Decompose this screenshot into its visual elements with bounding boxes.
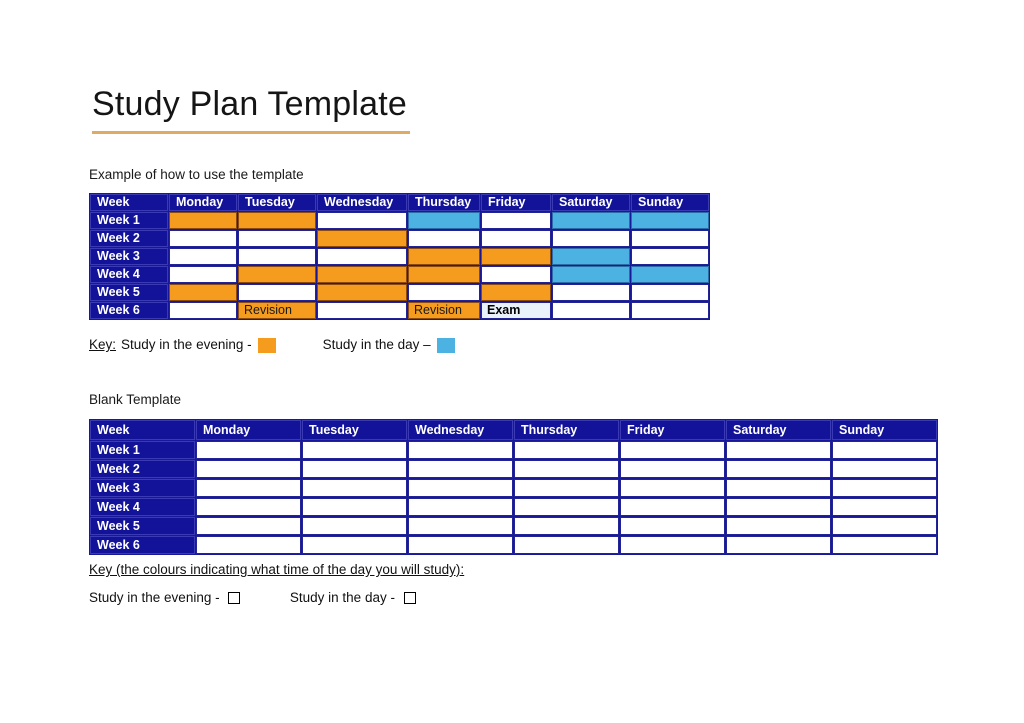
week-label-cell: Week 5 [90, 517, 195, 535]
day-cell[interactable] [832, 536, 937, 554]
day-cell[interactable] [832, 460, 937, 478]
table-row: Week 3 [90, 248, 709, 265]
example-table-body: Week 1Week 2Week 3Week 4Week 5Week 6Revi… [90, 212, 709, 319]
day-cell[interactable] [552, 230, 630, 247]
column-header-thursday: Thursday [514, 420, 619, 440]
column-header-thursday: Thursday [408, 194, 480, 211]
column-header-tuesday: Tuesday [238, 194, 316, 211]
day-cell[interactable] [620, 460, 725, 478]
table-row: Week 3 [90, 479, 937, 497]
day-cell[interactable] [196, 498, 301, 516]
evening-checkbox-icon[interactable] [228, 592, 240, 604]
day-cell[interactable] [317, 302, 407, 319]
evening-color-swatch-icon [258, 338, 276, 353]
column-header-monday: Monday [196, 420, 301, 440]
day-cell[interactable] [726, 479, 831, 497]
page-title-block: Study Plan Template [92, 84, 422, 134]
day-cell[interactable] [514, 498, 619, 516]
day-cell[interactable] [481, 230, 551, 247]
day-cell[interactable] [408, 498, 513, 516]
table-row: Week 1 [90, 441, 937, 459]
day-cell[interactable] [552, 212, 630, 229]
column-header-friday: Friday [620, 420, 725, 440]
day-cell[interactable] [552, 302, 630, 319]
day-cell[interactable] [302, 517, 407, 535]
day-cell[interactable] [408, 230, 480, 247]
day-cell[interactable] [238, 266, 316, 283]
day-cell[interactable] [238, 284, 316, 301]
day-cell[interactable] [408, 284, 480, 301]
column-header-sunday: Sunday [832, 420, 937, 440]
day-cell-text: Revision [244, 303, 315, 318]
page-title: Study Plan Template [92, 84, 422, 124]
column-header-wednesday: Wednesday [317, 194, 407, 211]
key-word-label: Key: [89, 336, 116, 354]
column-header-wednesday: Wednesday [408, 420, 513, 440]
day-cell[interactable] [238, 230, 316, 247]
day-cell[interactable] [514, 460, 619, 478]
column-header-saturday: Saturday [552, 194, 630, 211]
table-row: Week 2 [90, 230, 709, 247]
table-header-row: Week Monday Tuesday Wednesday Thursday F… [90, 420, 937, 440]
day-cell[interactable] [302, 441, 407, 459]
day-cell[interactable] [408, 441, 513, 459]
day-cell[interactable] [726, 517, 831, 535]
day-cell-text: Revision [414, 303, 479, 318]
key-evening-label: Study in the evening - [89, 590, 220, 605]
column-header-monday: Monday [169, 194, 237, 211]
day-cell[interactable] [514, 479, 619, 497]
key-day-label: Study in the day - [290, 590, 395, 605]
day-cell[interactable] [481, 284, 551, 301]
day-color-swatch-icon [437, 338, 455, 353]
day-cell[interactable] [169, 302, 237, 319]
day-cell[interactable] [196, 536, 301, 554]
day-cell[interactable] [620, 517, 725, 535]
day-cell[interactable] [408, 266, 480, 283]
day-cell[interactable] [238, 248, 316, 265]
day-cell-text: Exam [487, 303, 550, 318]
column-header-week: Week [90, 420, 195, 440]
week-label-cell: Week 6 [90, 302, 168, 319]
day-cell[interactable] [481, 248, 551, 265]
table-header-row: Week Monday Tuesday Wednesday Thursday F… [90, 194, 709, 211]
day-cell[interactable] [317, 248, 407, 265]
day-cell[interactable] [408, 479, 513, 497]
day-cell[interactable] [196, 479, 301, 497]
week-label-cell: Week 3 [90, 248, 168, 265]
blank-table-body: Week 1Week 2Week 3Week 4Week 5Week 6 [90, 441, 937, 554]
week-label-cell: Week 3 [90, 479, 195, 497]
day-cell[interactable] [832, 498, 937, 516]
day-cell[interactable] [302, 498, 407, 516]
week-label-cell: Week 6 [90, 536, 195, 554]
week-label-cell: Week 4 [90, 498, 195, 516]
day-cell[interactable] [726, 441, 831, 459]
table-row: Week 5 [90, 517, 937, 535]
document-page: Study Plan Template Example of how to us… [0, 0, 1024, 723]
key-evening-label: Study in the evening - [121, 336, 252, 354]
day-cell[interactable] [481, 212, 551, 229]
table-row: Week 4 [90, 498, 937, 516]
day-cell[interactable] [631, 212, 709, 229]
day-checkbox-icon[interactable] [404, 592, 416, 604]
day-cell[interactable] [481, 266, 551, 283]
day-cell[interactable] [726, 498, 831, 516]
day-cell[interactable] [552, 284, 630, 301]
day-cell[interactable] [832, 517, 937, 535]
table-row: Week 6 [90, 536, 937, 554]
day-cell[interactable] [620, 479, 725, 497]
day-cell[interactable] [317, 230, 407, 247]
day-cell[interactable] [317, 212, 407, 229]
day-cell[interactable] [631, 266, 709, 283]
blank-study-plan-table: Week Monday Tuesday Wednesday Thursday F… [89, 419, 938, 555]
day-cell[interactable] [631, 230, 709, 247]
week-label-cell: Week 1 [90, 212, 168, 229]
day-cell[interactable] [620, 536, 725, 554]
example-key-legend: Key: Study in the evening - Study in the… [89, 336, 455, 354]
day-cell[interactable] [196, 517, 301, 535]
day-cell[interactable] [620, 498, 725, 516]
day-cell[interactable] [408, 460, 513, 478]
day-cell[interactable] [552, 248, 630, 265]
day-cell[interactable] [169, 266, 237, 283]
day-cell[interactable] [302, 536, 407, 554]
day-cell[interactable] [408, 212, 480, 229]
table-row: Week 2 [90, 460, 937, 478]
day-cell[interactable] [408, 536, 513, 554]
week-label-cell: Week 2 [90, 460, 195, 478]
day-cell[interactable]: Revision [238, 302, 316, 319]
day-cell[interactable] [169, 284, 237, 301]
day-cell[interactable] [620, 441, 725, 459]
day-cell[interactable] [832, 479, 937, 497]
example-study-plan-table: Week Monday Tuesday Wednesday Thursday F… [89, 193, 710, 320]
key-day-label: Study in the day – [323, 336, 431, 354]
example-section-label: Example of how to use the template [89, 167, 304, 183]
day-cell[interactable]: Revision [408, 302, 480, 319]
day-cell[interactable] [238, 212, 316, 229]
week-label-cell: Week 4 [90, 266, 168, 283]
day-cell[interactable] [169, 248, 237, 265]
day-cell[interactable] [631, 248, 709, 265]
day-cell[interactable] [514, 441, 619, 459]
day-cell[interactable] [514, 517, 619, 535]
day-cell[interactable] [317, 266, 407, 283]
title-underline-rule [92, 131, 410, 134]
week-label-cell: Week 5 [90, 284, 168, 301]
day-cell[interactable] [169, 230, 237, 247]
table-row: Week 1 [90, 212, 709, 229]
day-cell[interactable] [408, 248, 480, 265]
day-cell[interactable] [408, 517, 513, 535]
column-header-tuesday: Tuesday [302, 420, 407, 440]
column-header-friday: Friday [481, 194, 551, 211]
day-cell[interactable] [196, 441, 301, 459]
week-label-cell: Week 2 [90, 230, 168, 247]
day-cell[interactable] [726, 460, 831, 478]
day-cell[interactable] [552, 266, 630, 283]
table-row: Week 6RevisionRevisionExam [90, 302, 709, 319]
table-row: Week 4 [90, 266, 709, 283]
day-cell[interactable] [631, 284, 709, 301]
day-cell[interactable]: Exam [481, 302, 551, 319]
day-cell[interactable] [631, 302, 709, 319]
day-cell[interactable] [169, 212, 237, 229]
column-header-sunday: Sunday [631, 194, 709, 211]
day-cell[interactable] [302, 460, 407, 478]
table-row: Week 5 [90, 284, 709, 301]
blank-key-legend: Study in the evening - Study in the day … [89, 589, 416, 607]
week-label-cell: Week 1 [90, 441, 195, 459]
day-cell[interactable] [514, 536, 619, 554]
blank-section-label: Blank Template [89, 392, 181, 408]
blank-key-title: Key (the colours indicating what time of… [89, 561, 464, 579]
column-header-week: Week [90, 194, 168, 211]
day-cell[interactable] [317, 284, 407, 301]
column-header-saturday: Saturday [726, 420, 831, 440]
day-cell[interactable] [302, 479, 407, 497]
day-cell[interactable] [196, 460, 301, 478]
day-cell[interactable] [726, 536, 831, 554]
day-cell[interactable] [832, 441, 937, 459]
